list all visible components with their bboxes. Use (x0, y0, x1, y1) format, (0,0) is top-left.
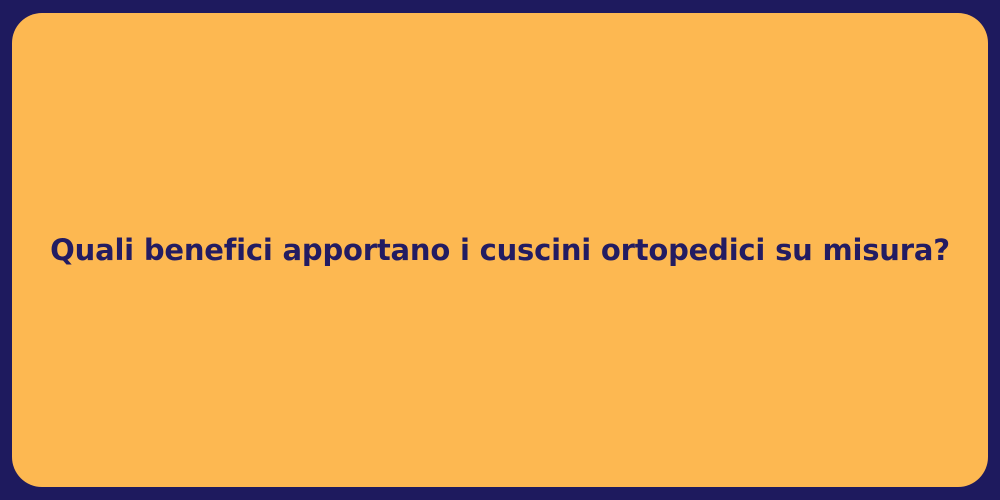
page-title: Quali benefici apportano i cuscini ortop… (50, 232, 950, 268)
page-frame: Quali benefici apportano i cuscini ortop… (0, 0, 1000, 500)
question-card: Quali benefici apportano i cuscini ortop… (12, 13, 988, 487)
